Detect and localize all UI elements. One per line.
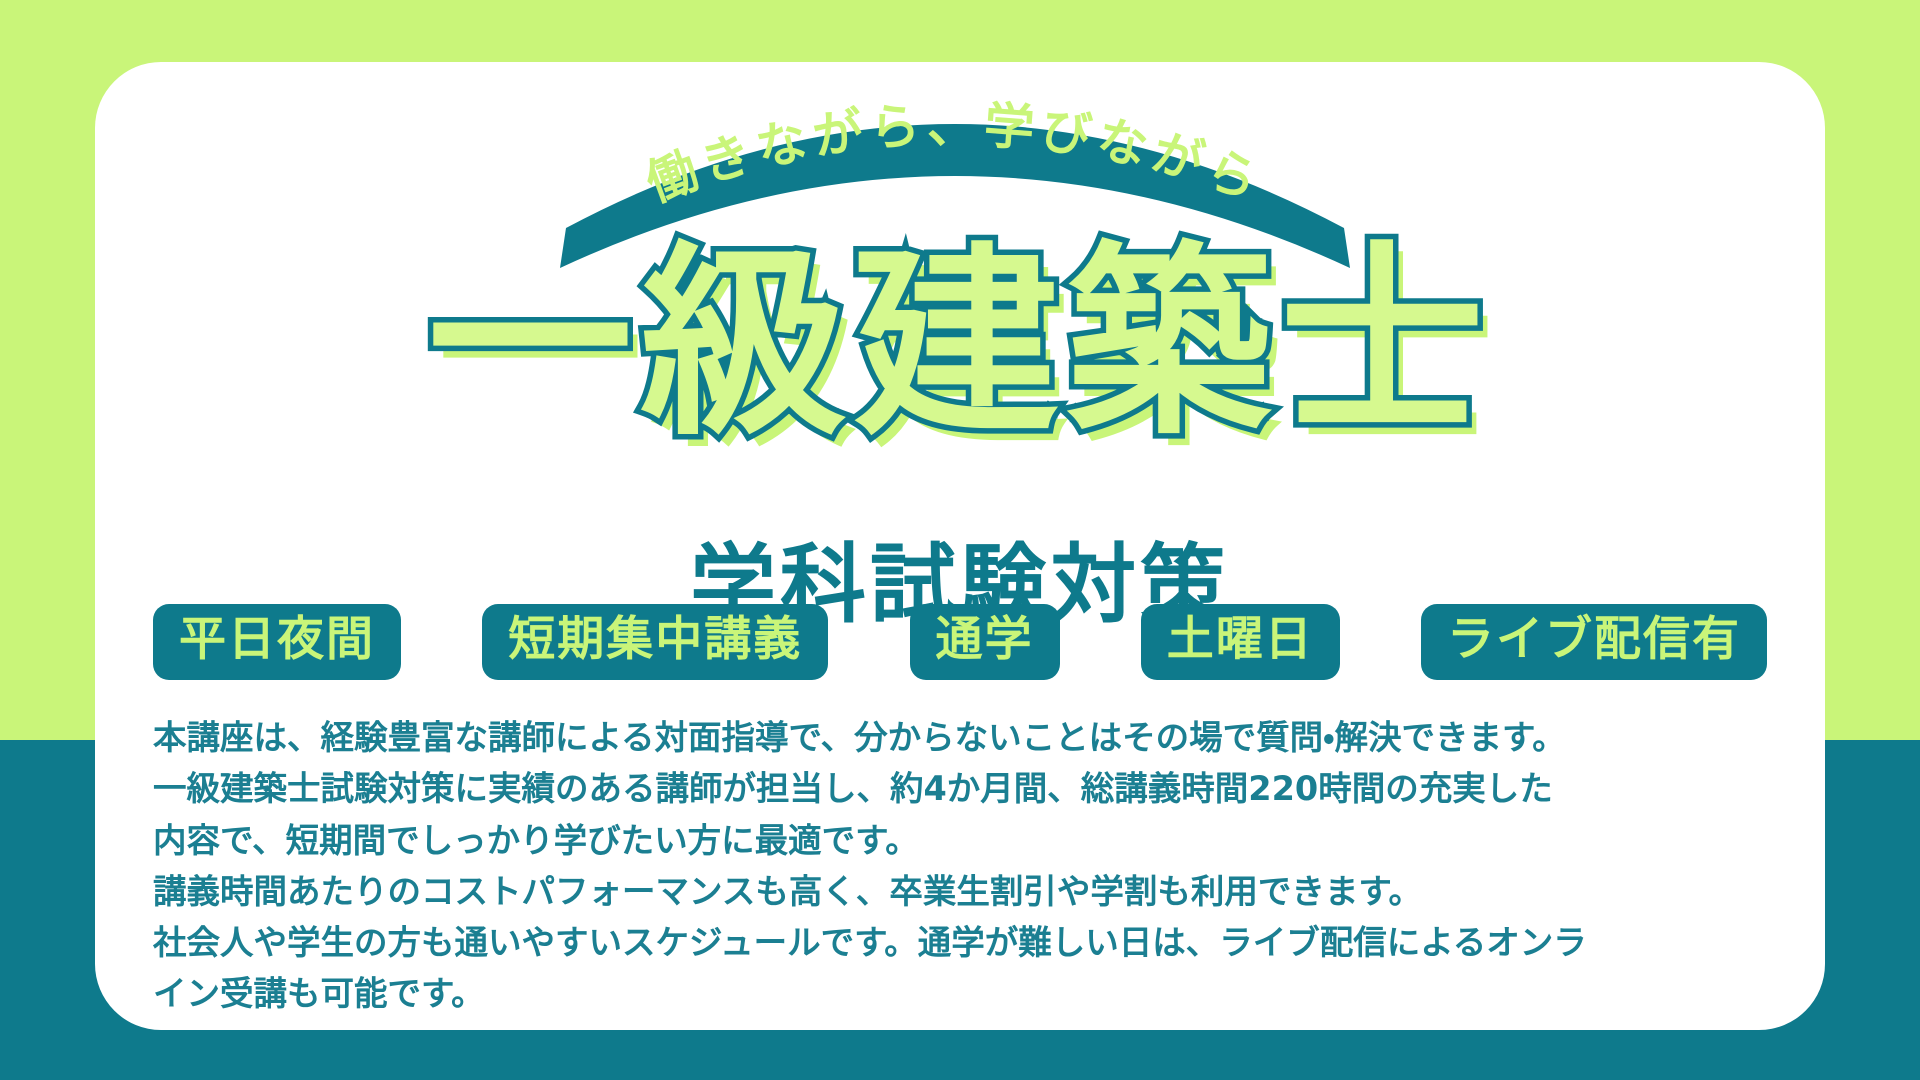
body-line: 一級建築士試験対策に実績のある講師が担当し、約4か月間、総講義時間220時間の充… [153, 763, 1773, 814]
badge-intensive-course[interactable]: 短期集中講義 [482, 604, 828, 680]
badge-row: 平日夜間 短期集中講義 通学 土曜日 ライブ配信有 [153, 604, 1767, 680]
body-line: 内容で、短期間でしっかり学びたい方に最適です。 [153, 815, 1773, 866]
badge-commuting[interactable]: 通学 [910, 604, 1060, 680]
body-line: 講義時間あたりのコストパフォーマンスも高く、卒業生割引や学割も利用できます。 [153, 866, 1773, 917]
body-line: 本講座は、経験豊富な講師による対面指導で、分からないことはその場で質問・解決でき… [153, 712, 1773, 763]
badge-weekday-evening[interactable]: 平日夜間 [153, 604, 401, 680]
badge-saturday[interactable]: 土曜日 [1141, 604, 1340, 680]
headline-main-layer: 一級建築士 [428, 225, 1493, 463]
white-content-card: 一級建築士 一級建築士 学科試験対策 平日夜間 短期集中講義 通学 土曜日 ライ… [95, 62, 1825, 1030]
body-copy: 本講座は、経験豊富な講師による対面指導で、分からないことはその場で質問・解決でき… [153, 712, 1773, 1020]
body-line: 社会人や学生の方も通いやすいスケジュールです。通学が難しい日は、ライブ配信による… [153, 917, 1773, 968]
promo-banner: 一級建築士 一級建築士 学科試験対策 平日夜間 短期集中講義 通学 土曜日 ライ… [0, 0, 1920, 1080]
badge-live-streaming[interactable]: ライブ配信有 [1421, 604, 1767, 680]
headline-block: 一級建築士 一級建築士 [95, 237, 1825, 452]
main-headline: 一級建築士 一級建築士 [428, 237, 1493, 452]
body-line: イン受講も可能です。 [153, 968, 1773, 1019]
